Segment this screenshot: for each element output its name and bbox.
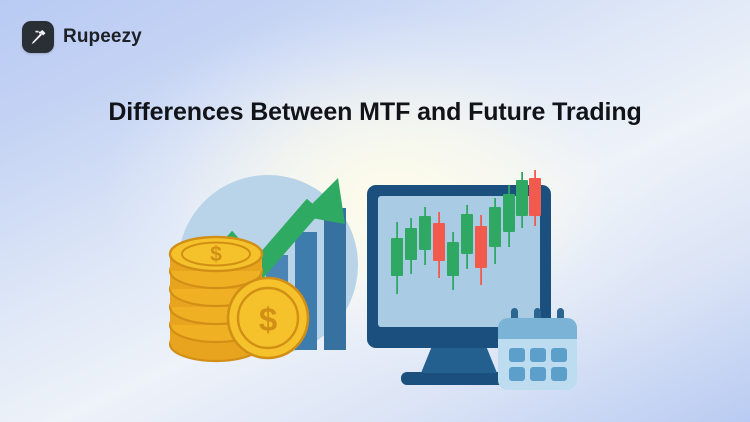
calendar-cell (551, 367, 567, 381)
rupeezy-arrow-mark-icon (22, 21, 54, 53)
calendar-header (498, 318, 577, 339)
calendar-cell (530, 348, 546, 362)
calendar-cell (509, 367, 525, 381)
calendar-cell (509, 348, 525, 362)
bar-3 (324, 208, 346, 350)
svg-text:$: $ (210, 243, 222, 266)
monitor-neck (421, 346, 497, 373)
mtf-vs-futures-trading-illustration: $ $ (0, 150, 750, 400)
calendar-cell (530, 367, 546, 381)
calendar-cell (551, 348, 567, 362)
page-title: Differences Between MTF and Future Tradi… (0, 98, 750, 127)
page-canvas: Rupeezy Differences Between MTF and Futu… (0, 0, 750, 422)
svg-text:$: $ (259, 301, 277, 338)
calendar-icon (498, 308, 577, 390)
brand-name: Rupeezy (63, 26, 142, 48)
brand-logo[interactable]: Rupeezy (22, 21, 142, 53)
